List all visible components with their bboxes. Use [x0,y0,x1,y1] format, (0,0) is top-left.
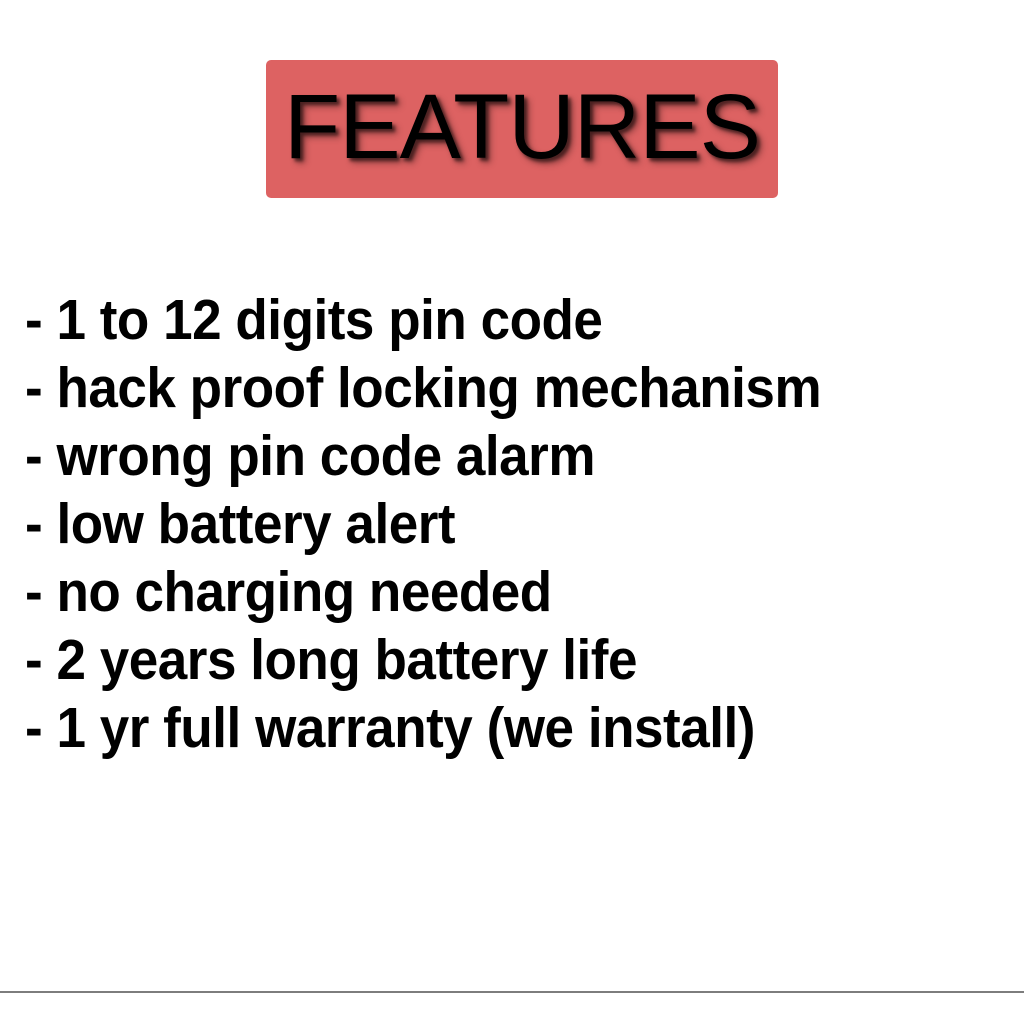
features-list: - 1 to 12 digits pin code - hack proof l… [25,286,1000,762]
list-item: - no charging needed [25,558,932,626]
list-item: - wrong pin code alarm [25,422,932,490]
slide-canvas: FEATURES - 1 to 12 digits pin code - hac… [0,0,1024,1024]
list-item: - low battery alert [25,490,932,558]
list-item: - 1 yr full warranty (we install) [25,694,932,762]
list-item: - hack proof locking mechanism [25,354,932,422]
title-banner: FEATURES [266,60,778,198]
list-item: - 1 to 12 digits pin code [25,286,932,354]
list-item: - 2 years long battery life [25,626,932,694]
page-title: FEATURES [284,81,760,173]
footer-area [0,993,1024,1024]
